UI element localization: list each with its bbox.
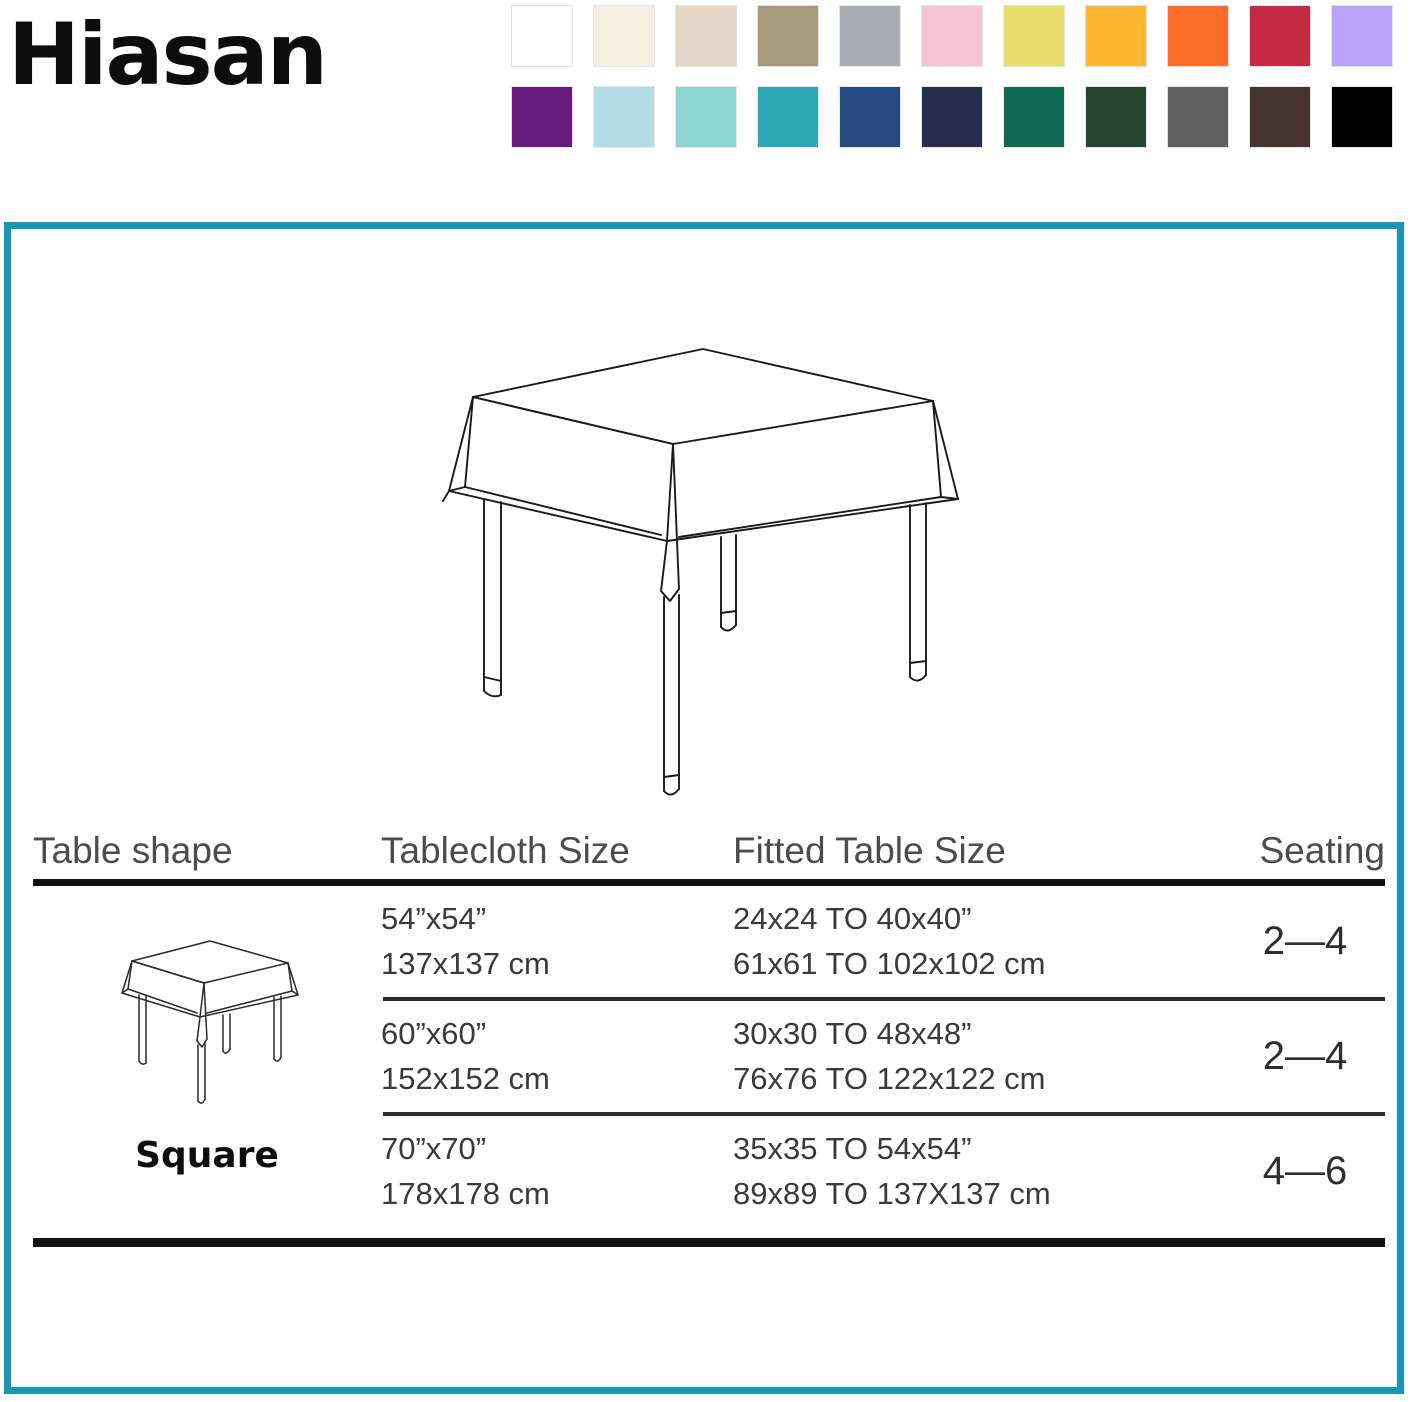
swatch-lavender[interactable] xyxy=(1332,6,1392,66)
swatch-beige[interactable] xyxy=(676,6,736,66)
header-tablecloth-size: Tablecloth Size xyxy=(381,832,733,869)
swatch-hunter-green[interactable] xyxy=(1086,87,1146,147)
swatch-purple[interactable] xyxy=(512,87,572,147)
cloth-size-inches: 70”x70” xyxy=(381,1127,733,1171)
cell-fitted-table-size: 35x35 TO 54x54” 89x89 TO 137X137 cm xyxy=(733,1127,1225,1215)
swatch-aqua[interactable] xyxy=(676,87,736,147)
swatch-orange[interactable] xyxy=(1168,6,1228,66)
swatch-emerald[interactable] xyxy=(1004,87,1064,147)
shape-cell: Square xyxy=(33,886,381,1219)
swatch-brown[interactable] xyxy=(1250,87,1310,147)
cell-tablecloth-size: 54”x54” 137x137 cm xyxy=(381,897,733,985)
cloth-size-inches: 54”x54” xyxy=(381,897,733,941)
cloth-size-cm: 152x152 cm xyxy=(381,1057,733,1101)
square-table-thumbnail-icon xyxy=(92,929,322,1129)
swatch-teal[interactable] xyxy=(758,87,818,147)
header-seating: Seating xyxy=(1225,832,1385,869)
brand-logo: Hiasan xyxy=(8,12,326,98)
swatch-pink[interactable] xyxy=(922,6,982,66)
cloth-size-cm: 137x137 cm xyxy=(381,942,733,986)
swatch-taupe[interactable] xyxy=(758,6,818,66)
hero-table-illustration xyxy=(421,339,981,799)
header-table-shape: Table shape xyxy=(33,832,381,869)
swatch-ivory[interactable] xyxy=(594,6,654,66)
size-table: Table shape Tablecloth Size Fitted Table… xyxy=(33,807,1385,1247)
table-body: Square 54”x54” 137x137 cm 24x24 TO 40x40… xyxy=(33,886,1385,1227)
fitted-size-cm: 61x61 TO 102x102 cm xyxy=(733,942,1225,986)
header-fitted-table-size: Fitted Table Size xyxy=(733,832,1225,869)
fitted-size-cm: 76x76 TO 122x122 cm xyxy=(733,1057,1225,1101)
color-swatch-grid xyxy=(512,6,1410,168)
cloth-size-cm: 178x178 cm xyxy=(381,1172,733,1216)
shape-label: Square xyxy=(135,1135,279,1176)
swatch-red[interactable] xyxy=(1250,6,1310,66)
swatch-grey[interactable] xyxy=(840,6,900,66)
header-divider xyxy=(33,879,1385,886)
swatch-row-2 xyxy=(512,87,1410,147)
cell-fitted-table-size: 30x30 TO 48x48” 76x76 TO 122x122 cm xyxy=(733,1012,1225,1100)
swatch-black[interactable] xyxy=(1332,87,1392,147)
fitted-size-inches: 24x24 TO 40x40” xyxy=(733,897,1225,941)
size-chart-panel: Table shape Tablecloth Size Fitted Table… xyxy=(4,222,1404,1394)
cell-tablecloth-size: 60”x60” 152x152 cm xyxy=(381,1012,733,1100)
swatch-dark-grey[interactable] xyxy=(1168,87,1228,147)
fitted-size-inches: 30x30 TO 48x48” xyxy=(733,1012,1225,1056)
cell-tablecloth-size: 70”x70” 178x178 cm xyxy=(381,1127,733,1215)
cell-seating: 2—4 xyxy=(1225,1028,1385,1085)
swatch-row-1 xyxy=(512,6,1410,66)
swatch-light-blue[interactable] xyxy=(594,87,654,147)
fitted-size-cm: 89x89 TO 137X137 cm xyxy=(733,1172,1225,1216)
cell-seating: 4—6 xyxy=(1225,1143,1385,1200)
cell-fitted-table-size: 24x24 TO 40x40” 61x61 TO 102x102 cm xyxy=(733,897,1225,985)
swatch-white[interactable] xyxy=(512,6,572,66)
swatch-royal-blue[interactable] xyxy=(840,87,900,147)
brand-header: Hiasan xyxy=(0,0,1416,200)
swatch-gold[interactable] xyxy=(1086,6,1146,66)
swatch-yellow[interactable] xyxy=(1004,6,1064,66)
cloth-size-inches: 60”x60” xyxy=(381,1012,733,1056)
table-bottom-divider xyxy=(33,1238,1385,1247)
fitted-size-inches: 35x35 TO 54x54” xyxy=(733,1127,1225,1171)
cell-seating: 2—4 xyxy=(1225,913,1385,970)
table-header-row: Table shape Tablecloth Size Fitted Table… xyxy=(33,807,1385,869)
swatch-navy[interactable] xyxy=(922,87,982,147)
